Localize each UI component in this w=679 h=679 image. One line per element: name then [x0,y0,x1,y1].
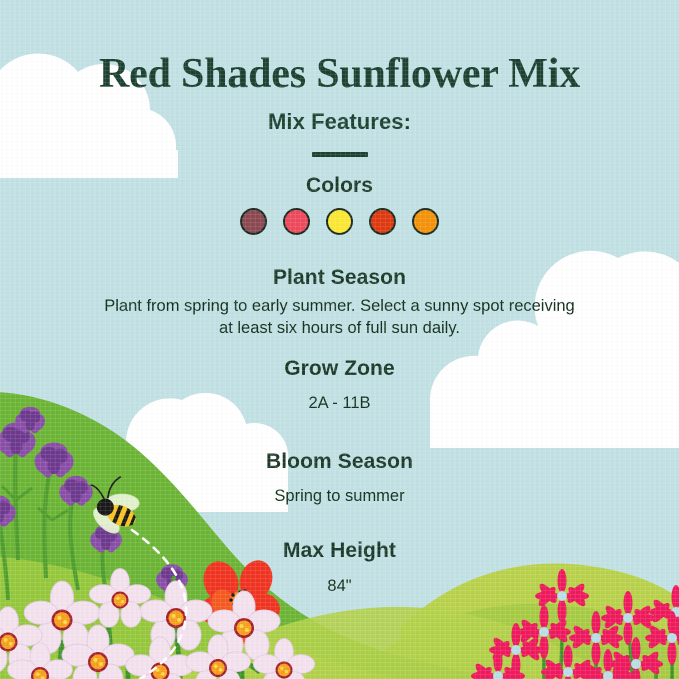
color-swatch-dark-maroon [240,208,267,235]
color-swatch-orange [412,208,439,235]
section-body-grow-zone: 2A - 11B [0,392,679,414]
color-swatch-pink-red [283,208,310,235]
subtitle: Mix Features: [0,109,679,135]
section-body-plant-season: Plant from spring to early summer. Selec… [0,295,679,340]
section-heading-bloom-season: Bloom Season [0,450,679,474]
section-heading-colors: Colors [0,174,679,198]
poster-canvas: Red Shades Sunflower Mix Mix Features: C… [0,0,679,679]
color-swatch-orange-red [369,208,396,235]
color-swatch-yellow [326,208,353,235]
color-swatch-row [0,208,679,235]
page-title: Red Shades Sunflower Mix [0,50,679,98]
section-body-max-height: 84" [0,575,679,597]
section-body-bloom-season: Spring to summer [0,485,679,507]
section-heading-plant-season: Plant Season [0,266,679,290]
section-heading-max-height: Max Height [0,539,679,563]
divider [312,152,368,157]
section-heading-grow-zone: Grow Zone [0,357,679,381]
